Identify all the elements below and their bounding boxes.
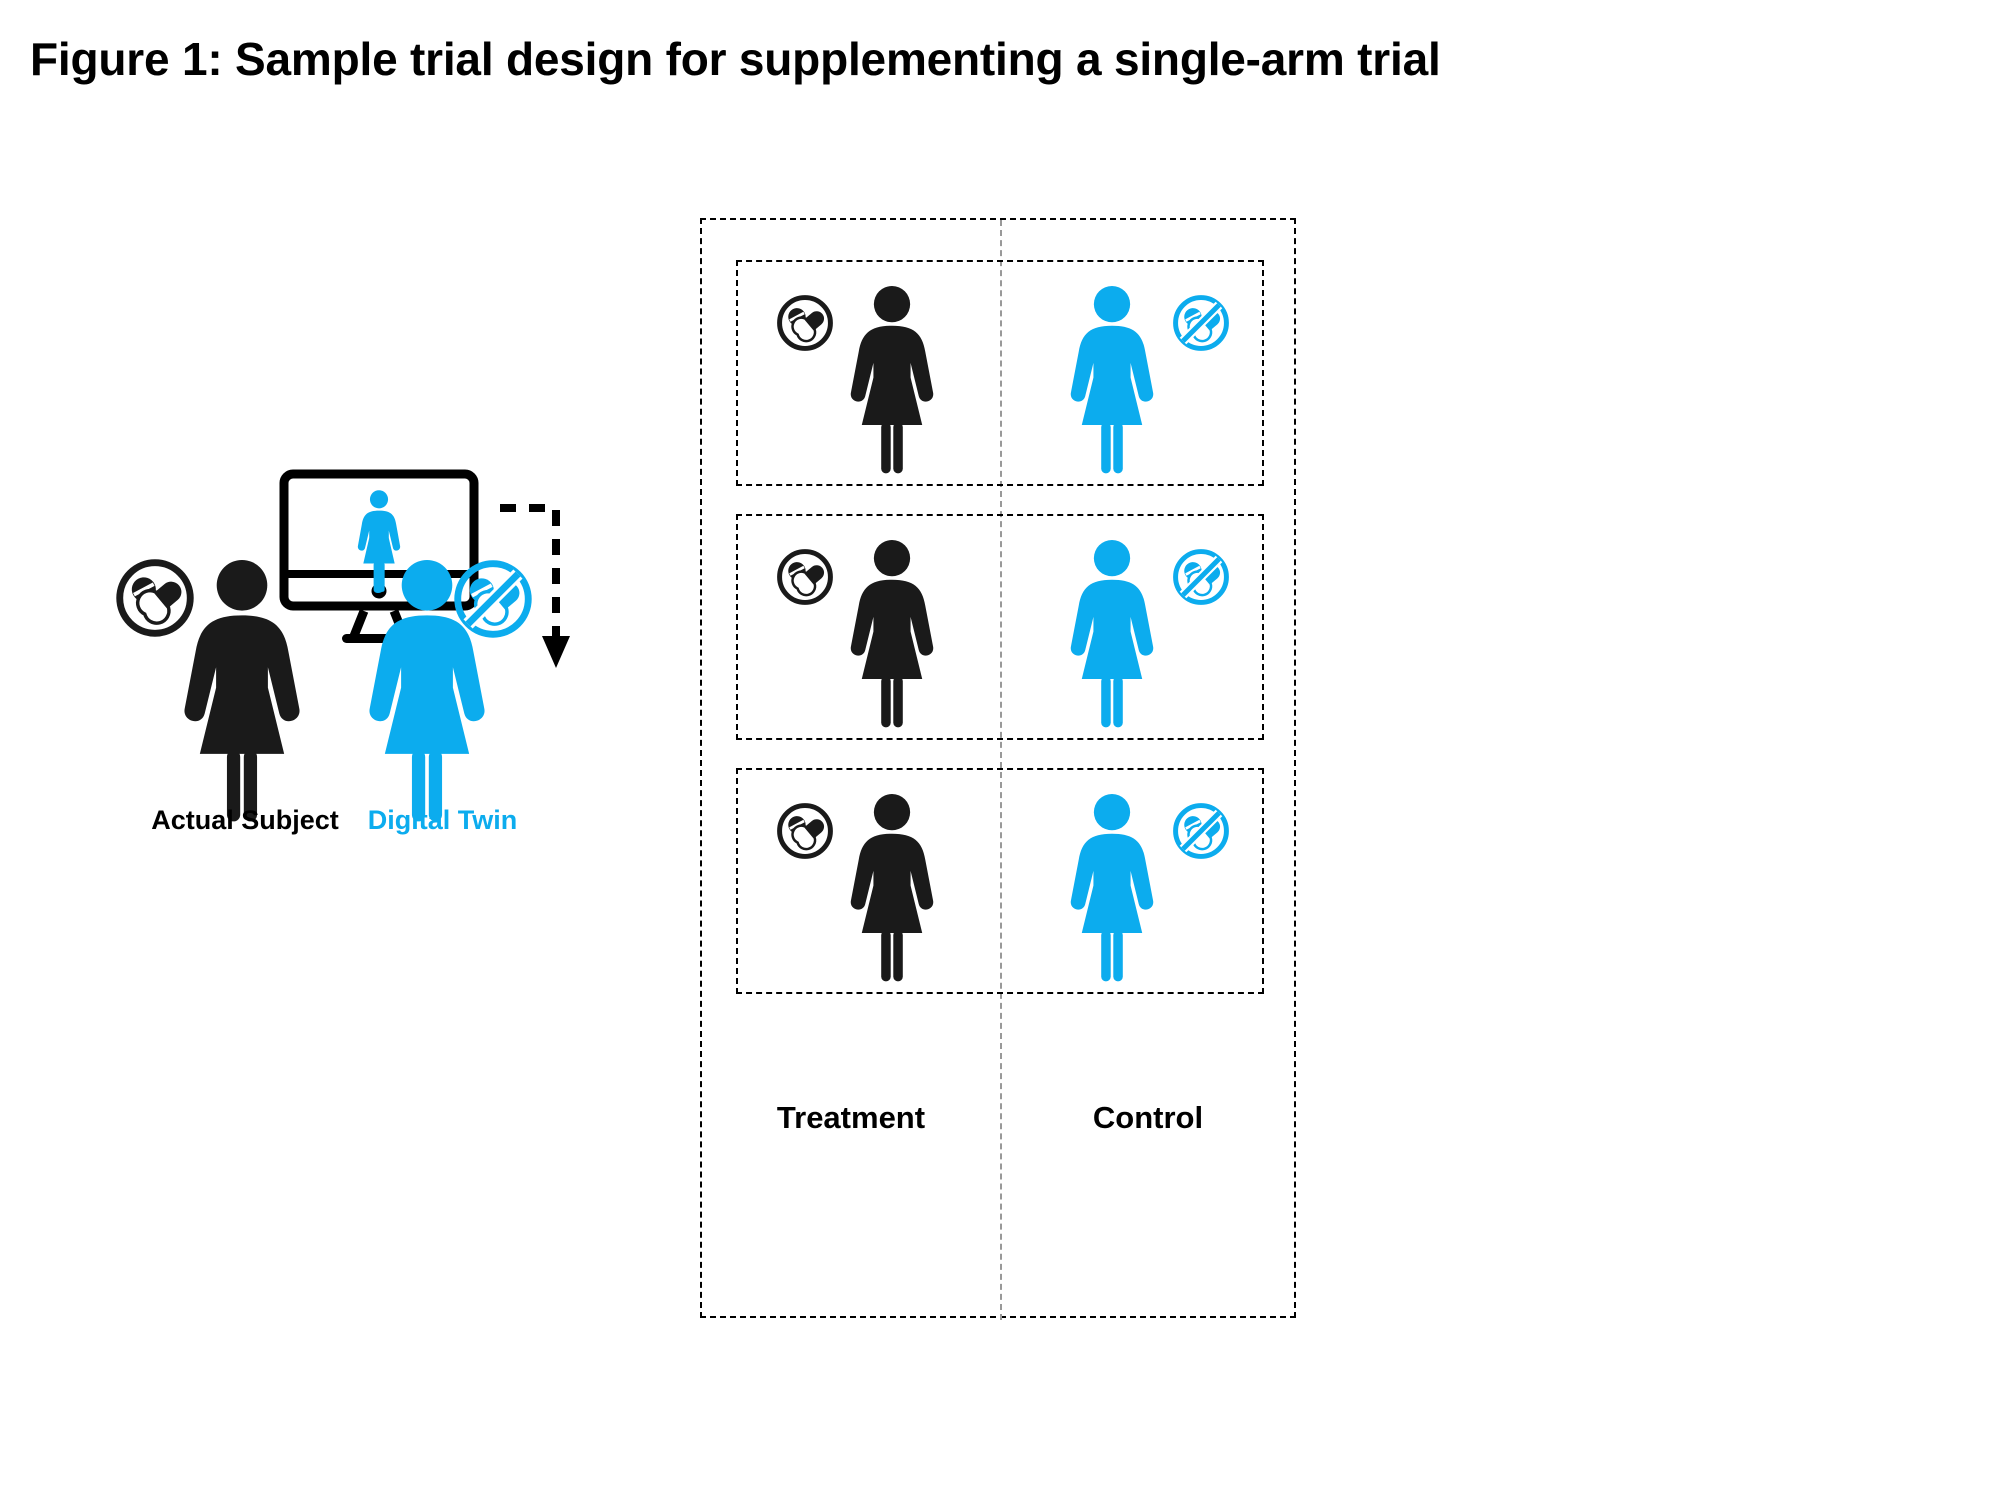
person-female-icon: [842, 286, 942, 476]
trial-cell-treatment: [738, 516, 1002, 742]
column-label-treatment: Treatment: [702, 1100, 1000, 1136]
trial-cell-control: [1002, 516, 1266, 742]
column-label-control: Control: [1000, 1100, 1296, 1136]
table-row: [736, 514, 1264, 740]
digital-twin-label: Digital Twin: [335, 805, 550, 836]
person-female-icon: [172, 560, 312, 825]
table-row: [736, 260, 1264, 486]
no-pill-circle-icon: [1170, 292, 1232, 354]
person-female-icon: [842, 794, 942, 984]
trial-cell-treatment: [738, 770, 1002, 996]
actual-subject-label: Actual Subject: [130, 805, 360, 836]
person-female-icon: [1062, 540, 1162, 730]
person-female-icon: [1062, 286, 1162, 476]
person-female-icon: [842, 540, 942, 730]
page-title: Figure 1: Sample trial design for supple…: [30, 32, 1441, 86]
trial-design-grid: Treatment Control: [700, 218, 1296, 1318]
no-pill-circle-icon: [1170, 546, 1232, 608]
person-female-icon: [1062, 794, 1162, 984]
pill-circle-icon: [774, 546, 836, 608]
table-row: [736, 768, 1264, 994]
trial-cell-control: [1002, 770, 1266, 996]
pill-circle-icon: [774, 800, 836, 862]
pill-circle-icon: [774, 292, 836, 354]
no-pill-circle-icon: [1170, 800, 1232, 862]
no-pill-circle-icon: [450, 556, 536, 642]
trial-cell-treatment: [738, 262, 1002, 488]
digital-twin-generation-panel: Actual Subject Digital Twin: [120, 460, 680, 1080]
trial-cell-control: [1002, 262, 1266, 488]
